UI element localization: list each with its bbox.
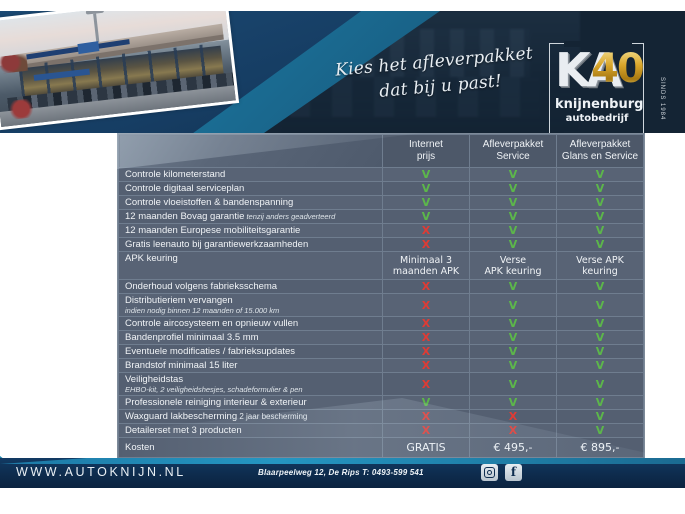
cell-check: V <box>470 359 557 373</box>
check-glyph: V <box>596 378 605 391</box>
header-col1-line1: Internet <box>383 139 469 151</box>
cell-check: V <box>557 210 644 224</box>
row-label-text: Distributieriem vervangen <box>125 295 233 306</box>
footer-address: Blaarpeelweg 12, De Rips T: 0493-599 541 <box>258 468 424 477</box>
check-glyph: V <box>596 182 605 195</box>
cell-cross: X <box>383 280 470 294</box>
row-label-text: Professionele reiniging interieur & exte… <box>125 397 307 408</box>
header-internet-prijs: Internet prijs <box>383 135 470 168</box>
cell-check: V <box>557 359 644 373</box>
cell-cross: X <box>383 345 470 359</box>
check-glyph: V <box>509 168 518 181</box>
row-label: Waxguard lakbescherming 2 jaar beschermi… <box>119 410 383 424</box>
table-head: Internet prijs Afleverpakket Service Afl… <box>119 135 644 168</box>
cross-glyph: X <box>422 345 430 358</box>
table-row: Controle digitaal serviceplanVVV <box>119 182 644 196</box>
check-glyph: V <box>596 299 605 312</box>
check-glyph: V <box>509 331 518 344</box>
table-row: Detailerset met 3 productenXXV <box>119 424 644 438</box>
check-glyph: V <box>509 317 518 330</box>
row-label: Controle aircosysteem en opnieuw vullen <box>119 317 383 331</box>
instagram-icon-lens <box>487 470 492 475</box>
check-glyph: V <box>509 378 518 391</box>
cell-cross: X <box>470 424 557 438</box>
row-label: 12 maanden Europese mobiliteitsgarantie <box>119 224 383 238</box>
footer-website-url[interactable]: WWW.AUTOKNIJN.NL <box>16 465 186 479</box>
cell-check: V <box>557 294 644 317</box>
cell-check: V <box>557 410 644 424</box>
check-glyph: V <box>509 396 518 409</box>
table-body: Controle kilometerstandVVVControle digit… <box>119 168 644 458</box>
row-label: Gratis leenauto bij garantiewerkzaamhede… <box>119 238 383 252</box>
cell-cross: X <box>383 331 470 345</box>
cell-check: V <box>383 182 470 196</box>
check-glyph: V <box>596 359 605 372</box>
row-label-text: Veiligheidstas <box>125 374 183 385</box>
cross-glyph: X <box>422 299 430 312</box>
row-label-inline-note: 2 jaar bescherming <box>237 412 307 421</box>
cross-glyph: X <box>422 424 430 437</box>
table-row: 12 maanden Europese mobiliteitsgarantieX… <box>119 224 644 238</box>
table-header-row: Internet prijs Afleverpakket Service Afl… <box>119 135 644 168</box>
check-glyph: V <box>596 210 605 223</box>
check-glyph: V <box>596 280 605 293</box>
poster-page: Kies het afleverpakket dat bij u past! K… <box>0 0 685 514</box>
row-label-text: Bandenprofiel minimaal 3.5 mm <box>125 332 259 343</box>
header-afleverpakket-glans-service: Afleverpakket Glans en Service <box>557 135 644 168</box>
cell-line-2: keuring <box>557 266 643 277</box>
package-comparison-table: Internet prijs Afleverpakket Service Afl… <box>117 133 645 459</box>
header-col1-line2: prijs <box>383 151 469 163</box>
cell-line-2: APK keuring <box>470 266 556 277</box>
table-row: Gratis leenauto bij garantiewerkzaamhede… <box>119 238 644 252</box>
logo-since-text: SINDS 1984 <box>659 77 665 120</box>
cell-cross: X <box>383 424 470 438</box>
row-label-text: Eventuele modificaties / fabrieksupdates <box>125 346 295 357</box>
cross-glyph: X <box>422 410 430 423</box>
check-glyph: V <box>509 238 518 251</box>
cell-check: V <box>470 280 557 294</box>
check-glyph: V <box>596 424 605 437</box>
row-label: 12 maanden Bovag garantie tenzij anders … <box>119 210 383 224</box>
row-label-note: indien nodig binnen 12 maanden of 15.000… <box>125 306 382 315</box>
facebook-icon[interactable]: f <box>505 464 522 481</box>
cell-check: V <box>470 224 557 238</box>
cross-glyph: X <box>422 378 430 391</box>
check-glyph: V <box>422 182 431 195</box>
cell-check: V <box>470 317 557 331</box>
row-label-text: Gratis leenauto bij garantiewerkzaamhede… <box>125 239 308 250</box>
cell-check: V <box>383 196 470 210</box>
table-row: Brandstof minimaal 15 literXVV <box>119 359 644 373</box>
check-glyph: V <box>509 182 518 195</box>
row-label-text: Detailerset met 3 producten <box>125 425 242 436</box>
check-glyph: V <box>596 345 605 358</box>
instagram-icon[interactable] <box>481 464 498 481</box>
cell-check: V <box>557 168 644 182</box>
cell-cross: X <box>383 359 470 373</box>
cell-apk-glans: Verse APKkeuring <box>557 252 644 280</box>
row-label: Distributieriem vervangenindien nodig bi… <box>119 294 383 317</box>
table-row: Eventuele modificaties / fabrieksupdates… <box>119 345 644 359</box>
row-label: Detailerset met 3 producten <box>119 424 383 438</box>
check-glyph: V <box>422 196 431 209</box>
footer-bar: WWW.AUTOKNIJN.NL Blaarpeelweg 12, De Rip… <box>0 458 685 488</box>
cell-check: V <box>383 210 470 224</box>
cell-check: V <box>557 224 644 238</box>
company-logo: KA 40 knijnenburg autobedrijf SINDS 1984 <box>549 43 661 133</box>
cell-check: V <box>470 345 557 359</box>
row-label-text: Controle kilometerstand <box>125 169 225 180</box>
table-row: 12 maanden Bovag garantie tenzij anders … <box>119 210 644 224</box>
cell-check: V <box>470 210 557 224</box>
check-glyph: V <box>509 299 518 312</box>
header-col2-line2: Service <box>470 151 556 163</box>
check-glyph: V <box>596 168 605 181</box>
row-label: Controle vloeistoffen & bandenspanning <box>119 196 383 210</box>
row-label-text: 12 maanden Europese mobiliteitsgarantie <box>125 225 300 236</box>
cell-cross: X <box>383 317 470 331</box>
check-glyph: V <box>596 196 605 209</box>
cell-cross: X <box>383 238 470 252</box>
check-glyph: V <box>596 224 605 237</box>
row-label-text: Controle digitaal serviceplan <box>125 183 244 194</box>
table-row-apk: APK keuringMinimaal 3maanden APKVerseAPK… <box>119 252 644 280</box>
row-label: Eventuele modificaties / fabrieksupdates <box>119 345 383 359</box>
check-glyph: V <box>509 345 518 358</box>
cell-check: V <box>383 396 470 410</box>
cell-check: V <box>470 331 557 345</box>
cell-check: V <box>470 294 557 317</box>
cell-check: V <box>557 317 644 331</box>
header-col2-line1: Afleverpakket <box>470 139 556 151</box>
cross-glyph: X <box>422 331 430 344</box>
cell-check: V <box>470 182 557 196</box>
check-glyph: V <box>596 331 605 344</box>
logo-anniversary-40: 40 <box>591 49 643 89</box>
cell-check: V <box>557 424 644 438</box>
cross-glyph: X <box>509 410 517 423</box>
cell-check: V <box>557 280 644 294</box>
cell-line-2: maanden APK <box>383 266 469 277</box>
cell-check: V <box>383 168 470 182</box>
table-row: Onderhoud volgens fabrieksschemaXVV <box>119 280 644 294</box>
cell-apk-internet: Minimaal 3maanden APK <box>383 252 470 280</box>
table-row: Distributieriem vervangenindien nodig bi… <box>119 294 644 317</box>
cross-glyph: X <box>422 359 430 372</box>
cell-check: V <box>557 373 644 396</box>
table-row: Bandenprofiel minimaal 3.5 mmXVV <box>119 331 644 345</box>
table-row: Controle vloeistoffen & bandenspanningVV… <box>119 196 644 210</box>
cell-line-1: Verse <box>470 255 556 266</box>
table-row: Controle aircosysteem en opnieuw vullenX… <box>119 317 644 331</box>
cell-check: V <box>557 182 644 196</box>
header-col3-line1: Afleverpakket <box>557 139 643 151</box>
cell-check: V <box>470 238 557 252</box>
check-glyph: V <box>422 168 431 181</box>
row-label-text: 12 maanden Bovag garantie <box>125 211 244 222</box>
check-glyph: V <box>509 280 518 293</box>
cross-glyph: X <box>422 280 430 293</box>
photo-flowers-bottom <box>5 97 40 120</box>
check-glyph: V <box>509 224 518 237</box>
cell-line-1: Verse APK <box>557 255 643 266</box>
cell-cost-service: € 495,- <box>470 438 557 458</box>
row-label-note: tenzij anders geadverteerd <box>244 212 335 221</box>
table-row-cost: KostenGRATIS€ 495,-€ 895,- <box>119 438 644 458</box>
cell-cost-internet: GRATIS <box>383 438 470 458</box>
cost-label: Kosten <box>119 438 383 458</box>
row-label-text: Controle vloeistoffen & bandenspanning <box>125 197 293 208</box>
cross-glyph: X <box>422 317 430 330</box>
cell-cross: X <box>383 373 470 396</box>
footer-cyan-wedge <box>0 458 685 464</box>
check-glyph: V <box>596 410 605 423</box>
table-row: VeiligheidstasEHBO-kit, 2 veiligheidshes… <box>119 373 644 396</box>
cell-cross: X <box>470 410 557 424</box>
check-glyph: V <box>509 359 518 372</box>
row-label: Controle kilometerstand <box>119 168 383 182</box>
cell-cross: X <box>383 294 470 317</box>
header-feature-column <box>119 135 383 168</box>
cell-check: V <box>557 331 644 345</box>
cell-apk-service: VerseAPK keuring <box>470 252 557 280</box>
row-label-text: Onderhoud volgens fabrieksschema <box>125 281 277 292</box>
check-glyph: V <box>422 396 431 409</box>
row-label: VeiligheidstasEHBO-kit, 2 veiligheidshes… <box>119 373 383 396</box>
header-afleverpakket-service: Afleverpakket Service <box>470 135 557 168</box>
row-label: Onderhoud volgens fabrieksschema <box>119 280 383 294</box>
table-row: Professionele reiniging interieur & exte… <box>119 396 644 410</box>
cell-check: V <box>470 196 557 210</box>
row-label-note: EHBO-kit, 2 veiligheidshesjes, schadefor… <box>125 385 382 394</box>
header-col3-line2: Glans en Service <box>557 151 643 163</box>
row-label: Bandenprofiel minimaal 3.5 mm <box>119 331 383 345</box>
check-glyph: V <box>596 238 605 251</box>
check-glyph: V <box>509 196 518 209</box>
cell-check: V <box>470 396 557 410</box>
cross-glyph: X <box>509 424 517 437</box>
cell-line-1: Minimaal 3 <box>383 255 469 266</box>
logo-company-subtitle: autobedrijf <box>555 113 639 125</box>
check-glyph: V <box>596 317 605 330</box>
check-glyph: V <box>596 396 605 409</box>
cell-cross: X <box>383 410 470 424</box>
cell-check: V <box>557 196 644 210</box>
cell-check: V <box>557 396 644 410</box>
row-label-text: Waxguard lakbescherming <box>125 411 237 422</box>
header-banner: Kies het afleverpakket dat bij u past! K… <box>0 11 685 133</box>
row-label: Professionele reiniging interieur & exte… <box>119 396 383 410</box>
table-row: Controle kilometerstandVVV <box>119 168 644 182</box>
row-label: Brandstof minimaal 15 liter <box>119 359 383 373</box>
check-glyph: V <box>422 210 431 223</box>
cross-glyph: X <box>422 238 430 251</box>
cell-cross: X <box>383 224 470 238</box>
row-label: Controle digitaal serviceplan <box>119 182 383 196</box>
cell-check: V <box>557 345 644 359</box>
row-label-text: Brandstof minimaal 15 liter <box>125 360 237 371</box>
row-label-text: Controle aircosysteem en opnieuw vullen <box>125 318 298 329</box>
logo-company-name: knijnenburg <box>555 97 639 112</box>
cross-glyph: X <box>422 224 430 237</box>
table-row: Waxguard lakbescherming 2 jaar beschermi… <box>119 410 644 424</box>
check-glyph: V <box>509 210 518 223</box>
row-label: APK keuring <box>119 252 383 280</box>
comparison-grid: Internet prijs Afleverpakket Service Afl… <box>118 134 644 458</box>
cell-check: V <box>470 168 557 182</box>
cell-check: V <box>557 238 644 252</box>
photo-flowers-top <box>0 54 28 74</box>
cell-cost-glans: € 895,- <box>557 438 644 458</box>
cell-check: V <box>470 373 557 396</box>
